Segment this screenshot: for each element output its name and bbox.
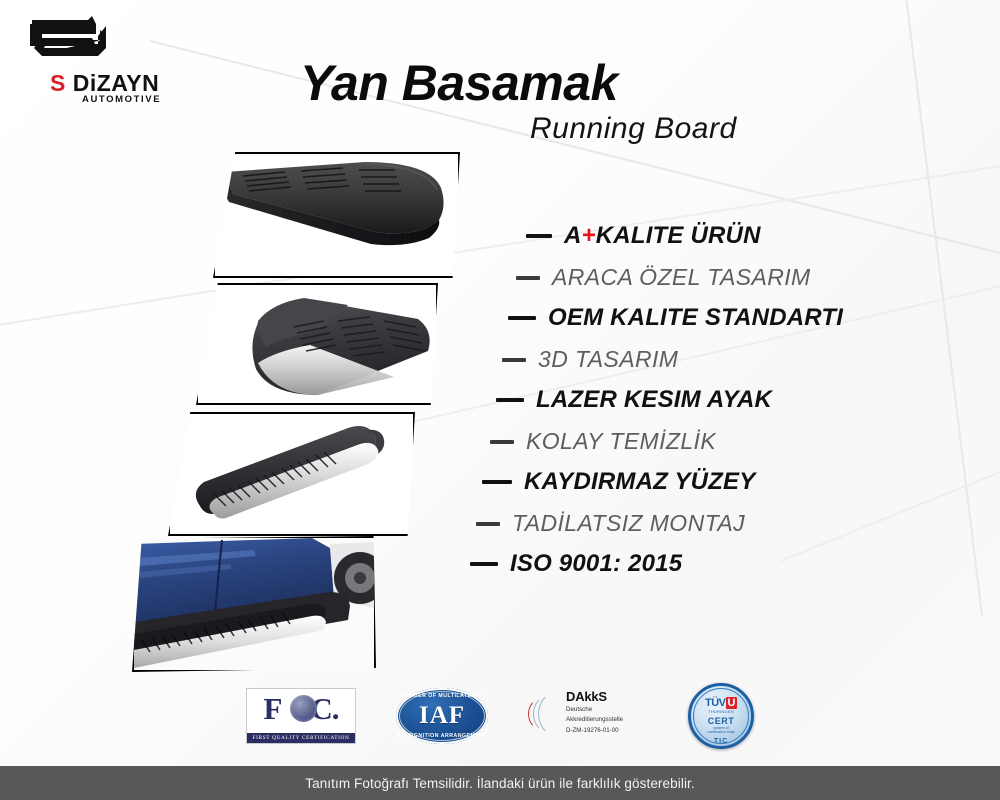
tuv-ring-decoration: [693, 688, 749, 744]
certification-logos: FC. FIRST QUALITY CERTIFICATION MEMBER O…: [0, 678, 1000, 754]
feature-label: ARACA ÖZEL TASARIM: [552, 264, 811, 291]
feature-label: LAZER KESIM AYAK: [536, 386, 772, 414]
feature-item: KOLAY TEMİZLİK: [490, 428, 940, 455]
feature-dash-icon: [496, 398, 524, 402]
product-photo-4: [132, 536, 376, 672]
feature-label: KAYDIRMAZ YÜZEY: [524, 468, 755, 496]
iaf-certificate-logo: MEMBER OF MULTILATERAL IAF RECOGNITION A…: [396, 688, 488, 744]
footer-disclaimer-bar: Tanıtım Fotoğrafı Temsilidir. İlandaki ü…: [0, 766, 1000, 800]
feature-label: 3D TASARIM: [538, 346, 678, 373]
feature-item: TADİLATSIZ MONTAJ: [476, 510, 940, 537]
brand-name-rest: DiZAYN: [66, 70, 159, 96]
iaf-bottom-text: RECOGNITION ARRANGEMENT: [396, 733, 488, 739]
iaf-top-text: MEMBER OF MULTILATERAL: [396, 693, 488, 699]
feature-label: TADİLATSIZ MONTAJ: [512, 510, 745, 537]
feature-item: ISO 9001: 2015: [470, 550, 940, 578]
running-board-full-length: [170, 414, 413, 534]
feature-item: LAZER KESIM AYAK: [496, 386, 940, 414]
advertisement-banner: S DiZAYN AUTOMOTIVE Yan Basamak Running …: [0, 0, 1000, 800]
running-board-top-view: [198, 285, 436, 403]
running-board-illustration: [170, 414, 413, 534]
product-photo-2: [196, 283, 438, 405]
feature-dash-icon: [526, 234, 552, 238]
product-photo-1: [213, 152, 460, 278]
feature-label: A+KALITE ÜRÜN: [564, 222, 761, 250]
feature-item: KAYDIRMAZ YÜZEY: [482, 468, 940, 496]
feature-label: KOLAY TEMİZLİK: [526, 428, 716, 455]
feature-dash-icon: [470, 562, 498, 566]
feature-item: OEM KALITE STANDARTI: [508, 304, 940, 332]
feature-list: A+KALITE ÜRÜN ARACA ÖZEL TASARIM OEM KAL…: [470, 222, 940, 578]
fqc-certificate-logo: FC. FIRST QUALITY CERTIFICATION: [246, 688, 356, 744]
page-title: Yan Basamak: [300, 54, 618, 112]
brand-tagline: AUTOMOTIVE: [82, 94, 161, 105]
running-board-angled-black: [215, 154, 458, 276]
fqc-mark: FC.: [263, 689, 338, 729]
feature-label: ISO 9001: 2015: [510, 550, 682, 578]
tuv-tic-label: TIC: [691, 738, 751, 745]
feature-dash-icon: [490, 440, 514, 444]
running-board-installed-vehicle: [134, 538, 374, 670]
feature-item: ARACA ÖZEL TASARIM: [516, 264, 940, 291]
dakks-arcs-icon: [528, 690, 562, 736]
fqc-caption: FIRST QUALITY CERTIFICATION: [247, 733, 355, 743]
product-photo-3: [168, 412, 415, 536]
brand-name-s: S: [50, 70, 66, 96]
vehicle-with-running-board-illustration: [134, 538, 374, 670]
feature-item: 3D TASARIM: [502, 346, 940, 373]
brand-name: S DiZAYN: [50, 70, 159, 97]
feature-dash-icon: [508, 316, 536, 320]
running-board-illustration: [215, 154, 458, 276]
page-subtitle: Running Board: [530, 112, 737, 146]
running-board-illustration: [198, 285, 436, 403]
globe-icon: [290, 695, 317, 722]
feature-dash-icon: [476, 522, 500, 526]
feature-item: A+KALITE ÜRÜN: [526, 222, 940, 250]
dakks-certificate-logo: DAkkS Deutsche Akkreditierungsstelle D-Z…: [528, 690, 648, 742]
feature-dash-icon: [516, 276, 540, 280]
feature-dash-icon: [482, 480, 512, 484]
feature-label: OEM KALITE STANDARTI: [548, 304, 843, 332]
footer-disclaimer-text: Tanıtım Fotoğrafı Temsilidir. İlandaki ü…: [305, 776, 695, 791]
tuv-certificate-logo: TÜVU THÜRINGEN CERT system of certificat…: [688, 683, 754, 749]
feature-dash-icon: [502, 358, 526, 362]
s-dizayn-logo-icon: [22, 14, 162, 74]
brand-logo: S DiZAYN AUTOMOTIVE: [22, 14, 162, 99]
